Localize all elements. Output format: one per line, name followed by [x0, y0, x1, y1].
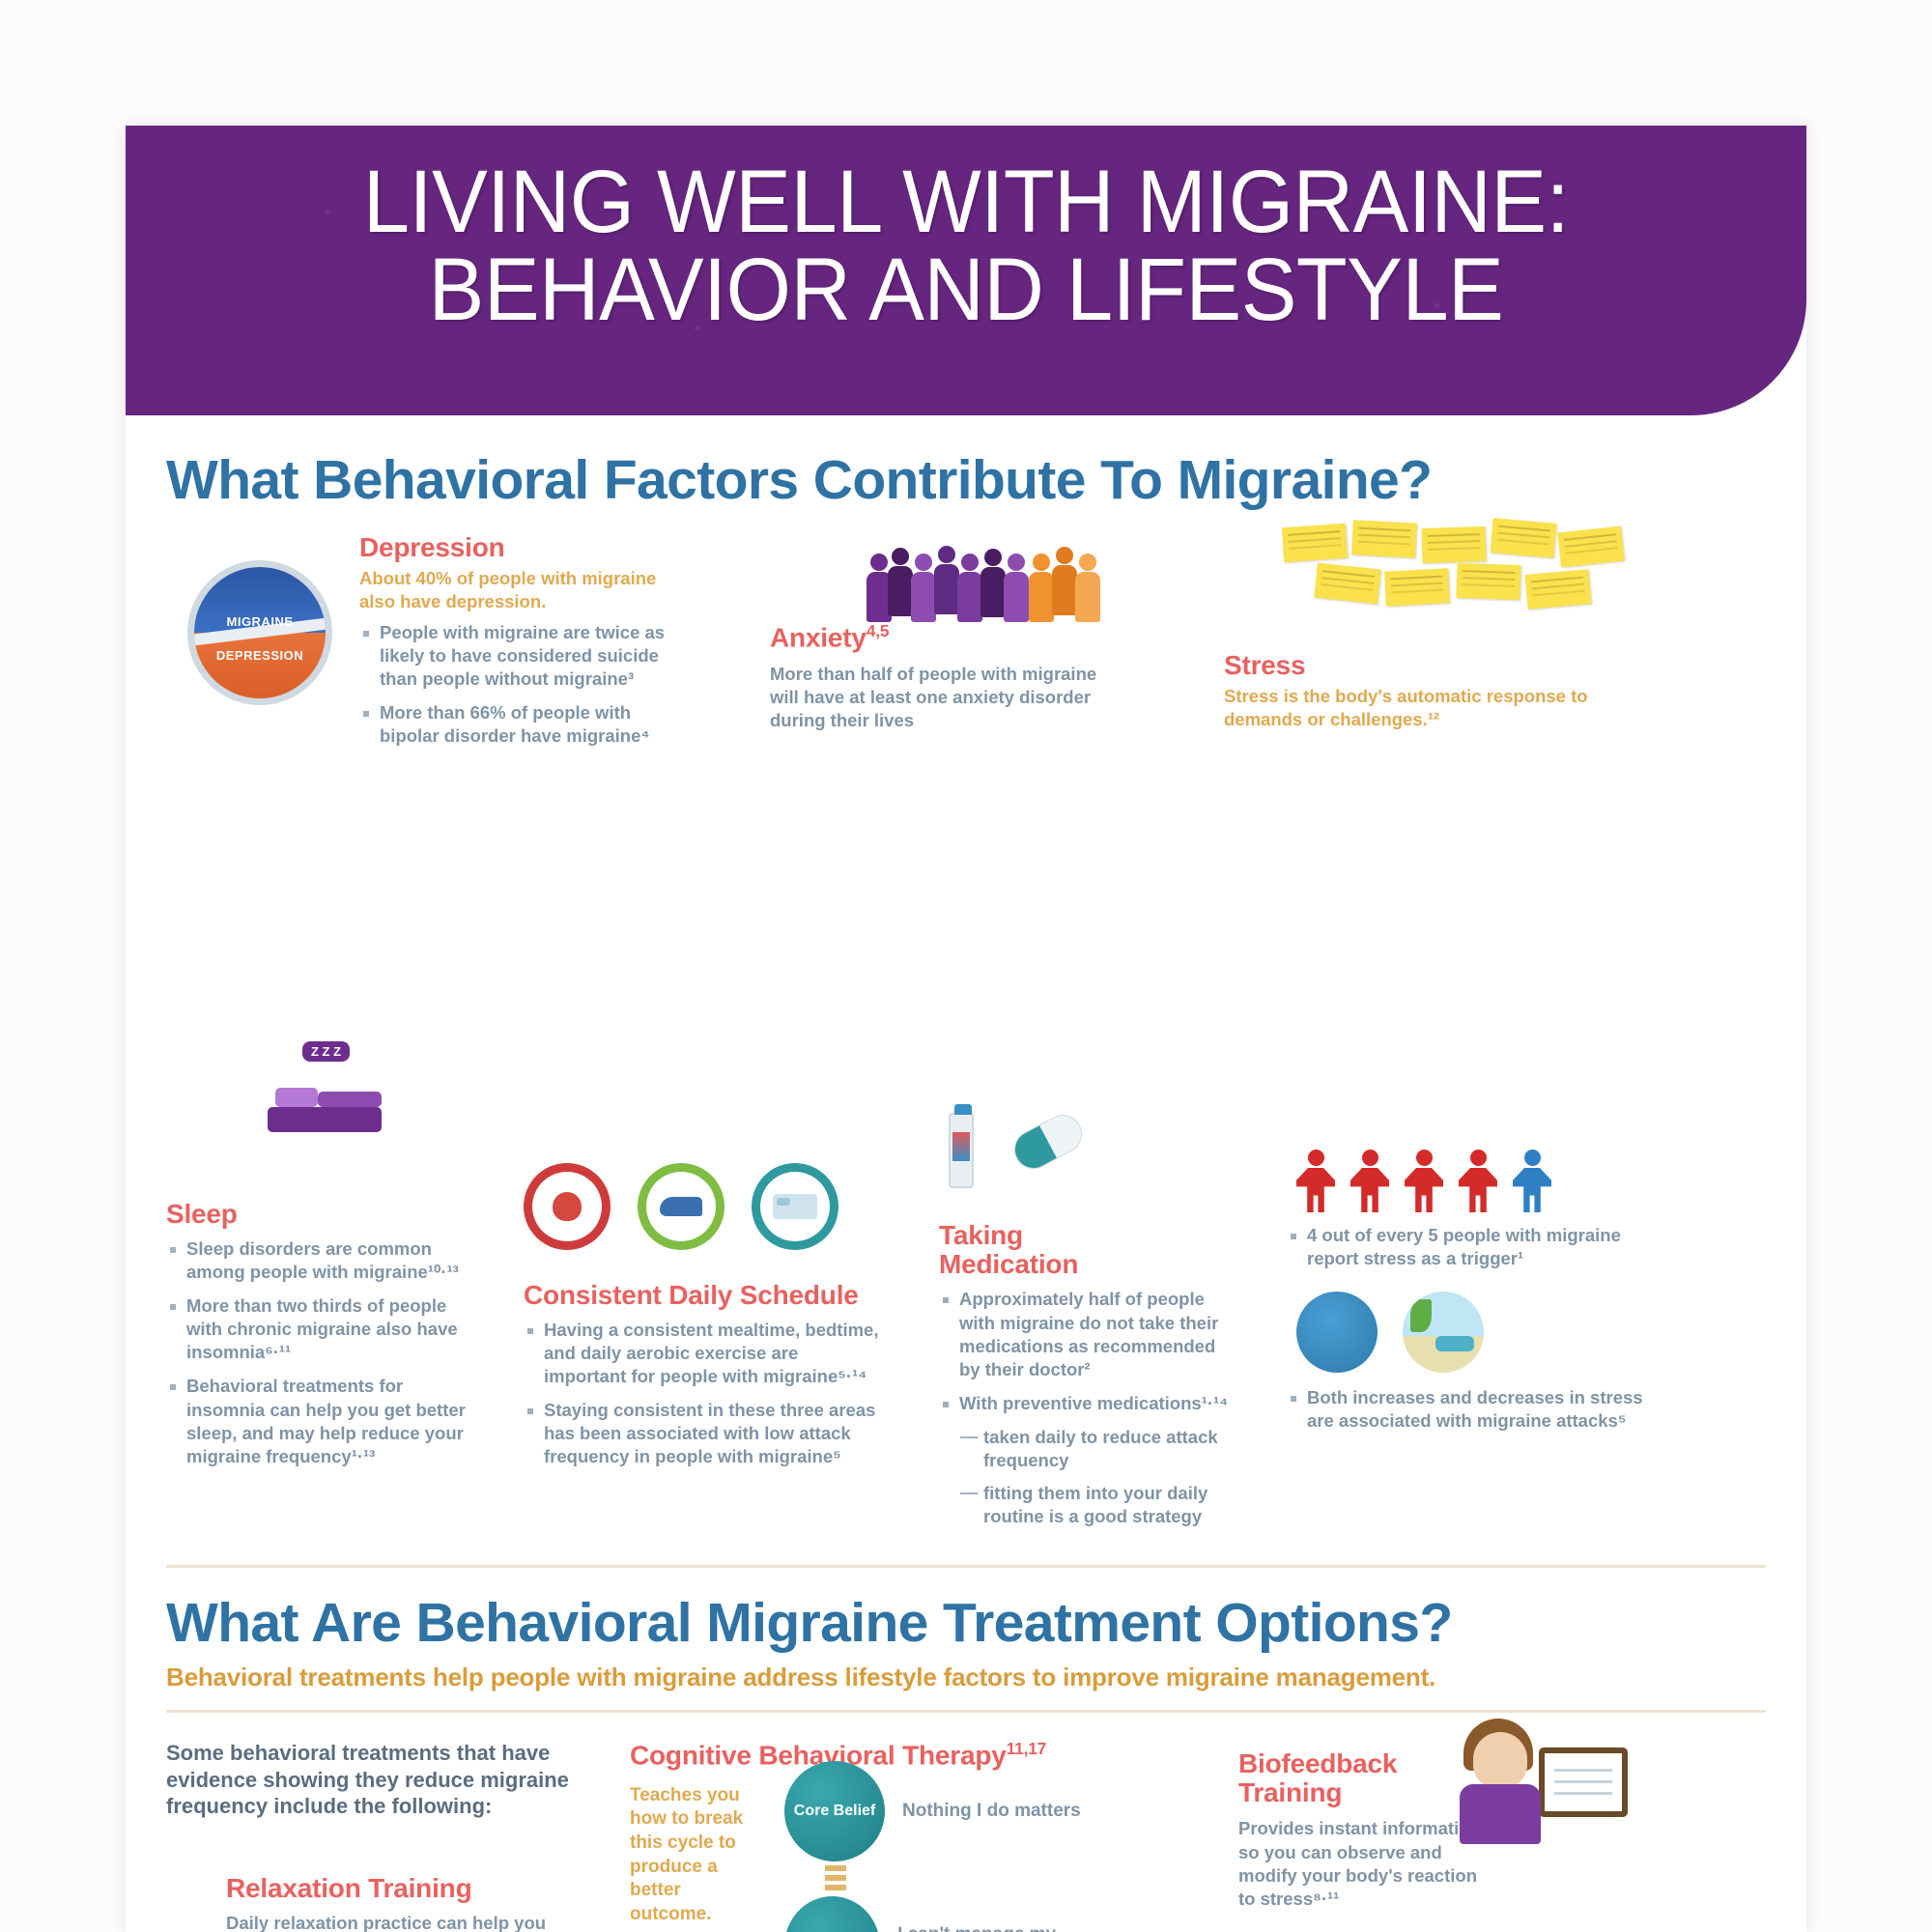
stress-lead: Stress is the body's automatic response …: [1224, 685, 1649, 730]
cbt-belief-chain: Core Belief Nothing I do matters Interme…: [784, 1761, 1132, 1932]
list-item: More than 66% of people with bipolar dis…: [359, 701, 678, 748]
taking-medication-block: Taking Medication Approximately half of …: [939, 1221, 1238, 1538]
section2-subtitle: Behavioral treatments help people with m…: [166, 1662, 1766, 1692]
biofeedback-illustration: [1446, 1719, 1639, 1873]
stress-block: Stress Stress is the body's automatic re…: [1224, 533, 1649, 730]
anxiety-heading: Anxiety4,5: [770, 622, 1108, 653]
list-item: Sleep disorders are common among people …: [166, 1237, 466, 1284]
stress-photo-row: [1296, 1292, 1673, 1373]
bedtime-icon: [752, 1163, 838, 1250]
medication-bullets: Approximately half of people with migrai…: [939, 1288, 1238, 1414]
title-line-1: LIVING WELL WITH MIGRAINE:: [363, 153, 1569, 251]
blanket-shape: [318, 1092, 382, 1107]
chain-connector: [825, 1865, 846, 1892]
anxiety-block: Anxiety4,5 More than half of people with…: [770, 533, 1108, 732]
section2-title: What Are Behavioral Migraine Treatment O…: [166, 1591, 1766, 1655]
bed-base-shape: [268, 1107, 382, 1132]
core-belief-caption: Nothing I do matters: [902, 1800, 1081, 1823]
icon-label-migraine: MIGRAINE: [194, 614, 326, 629]
cbt-citation: 11,17: [1007, 1739, 1046, 1758]
treatments-intro-text: Some behavioral treatments that have evi…: [166, 1740, 572, 1820]
list-item: People with migraine are twice as likely…: [359, 621, 678, 691]
medication-heading: Taking Medication: [939, 1221, 1238, 1279]
list-item: With preventive medications¹·¹⁴: [939, 1392, 1238, 1415]
sleep-bullets: Sleep disorders are common among people …: [166, 1237, 466, 1467]
behavioral-factors-grid: MIGRAINE DEPRESSION Depression About 40%…: [166, 512, 1766, 1130]
anxiety-citation: 4,5: [867, 621, 890, 640]
consistent-schedule-block: Consistent Daily Schedule Having a consi…: [524, 1281, 881, 1480]
stress-details-block: 4 out of every 5 people with migraine re…: [1287, 1136, 1673, 1443]
list-item: Approximately half of people with migrai…: [939, 1288, 1238, 1380]
anxiety-text: More than half of people with migraine w…: [770, 663, 1108, 732]
five-people-stress-icon: [1296, 1150, 1673, 1212]
work-stress-photo: [1296, 1292, 1378, 1373]
daily-schedule-icons: [524, 1163, 838, 1250]
treatment-options-grid: Some behavioral treatments that have evi…: [166, 1719, 1766, 1932]
section1-title: What Behavioral Factors Contribute To Mi…: [166, 448, 1766, 512]
list-item: Both increases and decreases in stress a…: [1287, 1386, 1673, 1433]
person-figure-red: [1350, 1150, 1389, 1212]
cbt-lead-text: Teaches you how to break this cycle to p…: [630, 1784, 746, 1927]
relaxation-text: Daily relaxation practice can help you a…: [226, 1912, 572, 1932]
bed-sleep-icon: Z Z Z: [268, 1074, 384, 1132]
poster-header: LIVING WELL WITH MIGRAINE: BEHAVIOR AND …: [126, 126, 1806, 415]
poster-body: What Behavioral Factors Contribute To Mi…: [126, 415, 1806, 1932]
depression-block: Depression About 40% of people with migr…: [359, 533, 678, 758]
sleep-heading: Sleep: [166, 1200, 466, 1229]
toothpaste-tube-icon: [949, 1113, 974, 1188]
icon-label-depression: DEPRESSION: [194, 648, 326, 663]
lifestyle-factors-grid: Z Z Z Sleep Sleep disorders are common a…: [166, 1136, 1766, 1551]
cbt-node-row: Core Belief Nothing I do matters: [784, 1761, 1132, 1861]
monitor-icon: [1539, 1747, 1628, 1817]
migraine-depression-circle-icon: MIGRAINE DEPRESSION: [187, 560, 332, 705]
person-figure-red: [1459, 1150, 1497, 1212]
treatments-intro-block: Some behavioral treatments that have evi…: [166, 1719, 572, 1932]
stress-heading: Stress: [1224, 651, 1649, 680]
title-line-2: BEHAVIOR AND LIFESTYLE: [213, 246, 1719, 334]
cbt-block: Cognitive Behavioral Therapy11,17 Teache…: [630, 1719, 1132, 1927]
medication-icon: [939, 1099, 1103, 1206]
person-figure-blue: [1513, 1150, 1551, 1212]
infographic-poster: LIVING WELL WITH MIGRAINE: BEHAVIOR AND …: [126, 126, 1806, 1932]
depression-lead: About 40% of people with migraine also h…: [359, 567, 678, 612]
list-item: Having a consistent mealtime, bedtime, a…: [524, 1319, 881, 1388]
biofeedback-block: Biofeedback Training Provides instant in…: [1238, 1728, 1654, 1911]
section-divider: [166, 1565, 1766, 1568]
depression-heading: Depression: [359, 533, 678, 562]
relax-beach-photo: [1403, 1292, 1484, 1373]
list-item: More than two thirds of people with chro…: [166, 1294, 466, 1364]
apple-meal-icon: [524, 1163, 611, 1250]
pillow-shape: [275, 1088, 318, 1107]
cbt-node-row: Intermediate Belief I can't manage my co…: [784, 1896, 1132, 1932]
intermediate-belief-node: Intermediate Belief: [784, 1896, 880, 1932]
page-title: LIVING WELL WITH MIGRAINE: BEHAVIOR AND …: [176, 126, 1756, 334]
relaxation-training-block: Relaxation Training Daily relaxation pra…: [226, 1874, 572, 1932]
list-item: Behavioral treatments for insomnia can h…: [166, 1375, 466, 1467]
list-item: 4 out of every 5 people with migraine re…: [1287, 1224, 1673, 1270]
list-item: fitting them into your daily routine is …: [960, 1482, 1238, 1528]
zzz-bubble-icon: Z Z Z: [302, 1041, 350, 1062]
relaxation-heading: Relaxation Training: [226, 1874, 572, 1903]
schedule-bullets: Having a consistent mealtime, bedtime, a…: [524, 1319, 881, 1468]
person-figure-red: [1405, 1150, 1443, 1212]
medication-sub-bullets: taken daily to reduce attack frequency f…: [960, 1426, 1238, 1528]
list-item: taken daily to reduce attack frequency: [960, 1426, 1238, 1472]
core-belief-node: Core Belief: [784, 1761, 885, 1861]
exercise-shoe-icon: [638, 1163, 724, 1250]
intermediate-belief-caption: I can't manage my condition: [897, 1923, 1132, 1932]
section2-divider: [166, 1710, 1766, 1713]
stress-bullet-1: 4 out of every 5 people with migraine re…: [1287, 1224, 1673, 1270]
schedule-heading: Consistent Daily Schedule: [524, 1281, 881, 1310]
list-item: Staying consistent in these three areas …: [524, 1399, 881, 1468]
crowd-people-icon: [867, 533, 1118, 622]
capsule-pill-icon: [1008, 1108, 1089, 1176]
person-figure-red: [1296, 1150, 1335, 1212]
sleep-block: Sleep Sleep disorders are common among p…: [166, 1200, 466, 1479]
depression-bullets: People with migraine are twice as likely…: [359, 621, 678, 748]
stress-bullet-2: Both increases and decreases in stress a…: [1287, 1386, 1673, 1433]
